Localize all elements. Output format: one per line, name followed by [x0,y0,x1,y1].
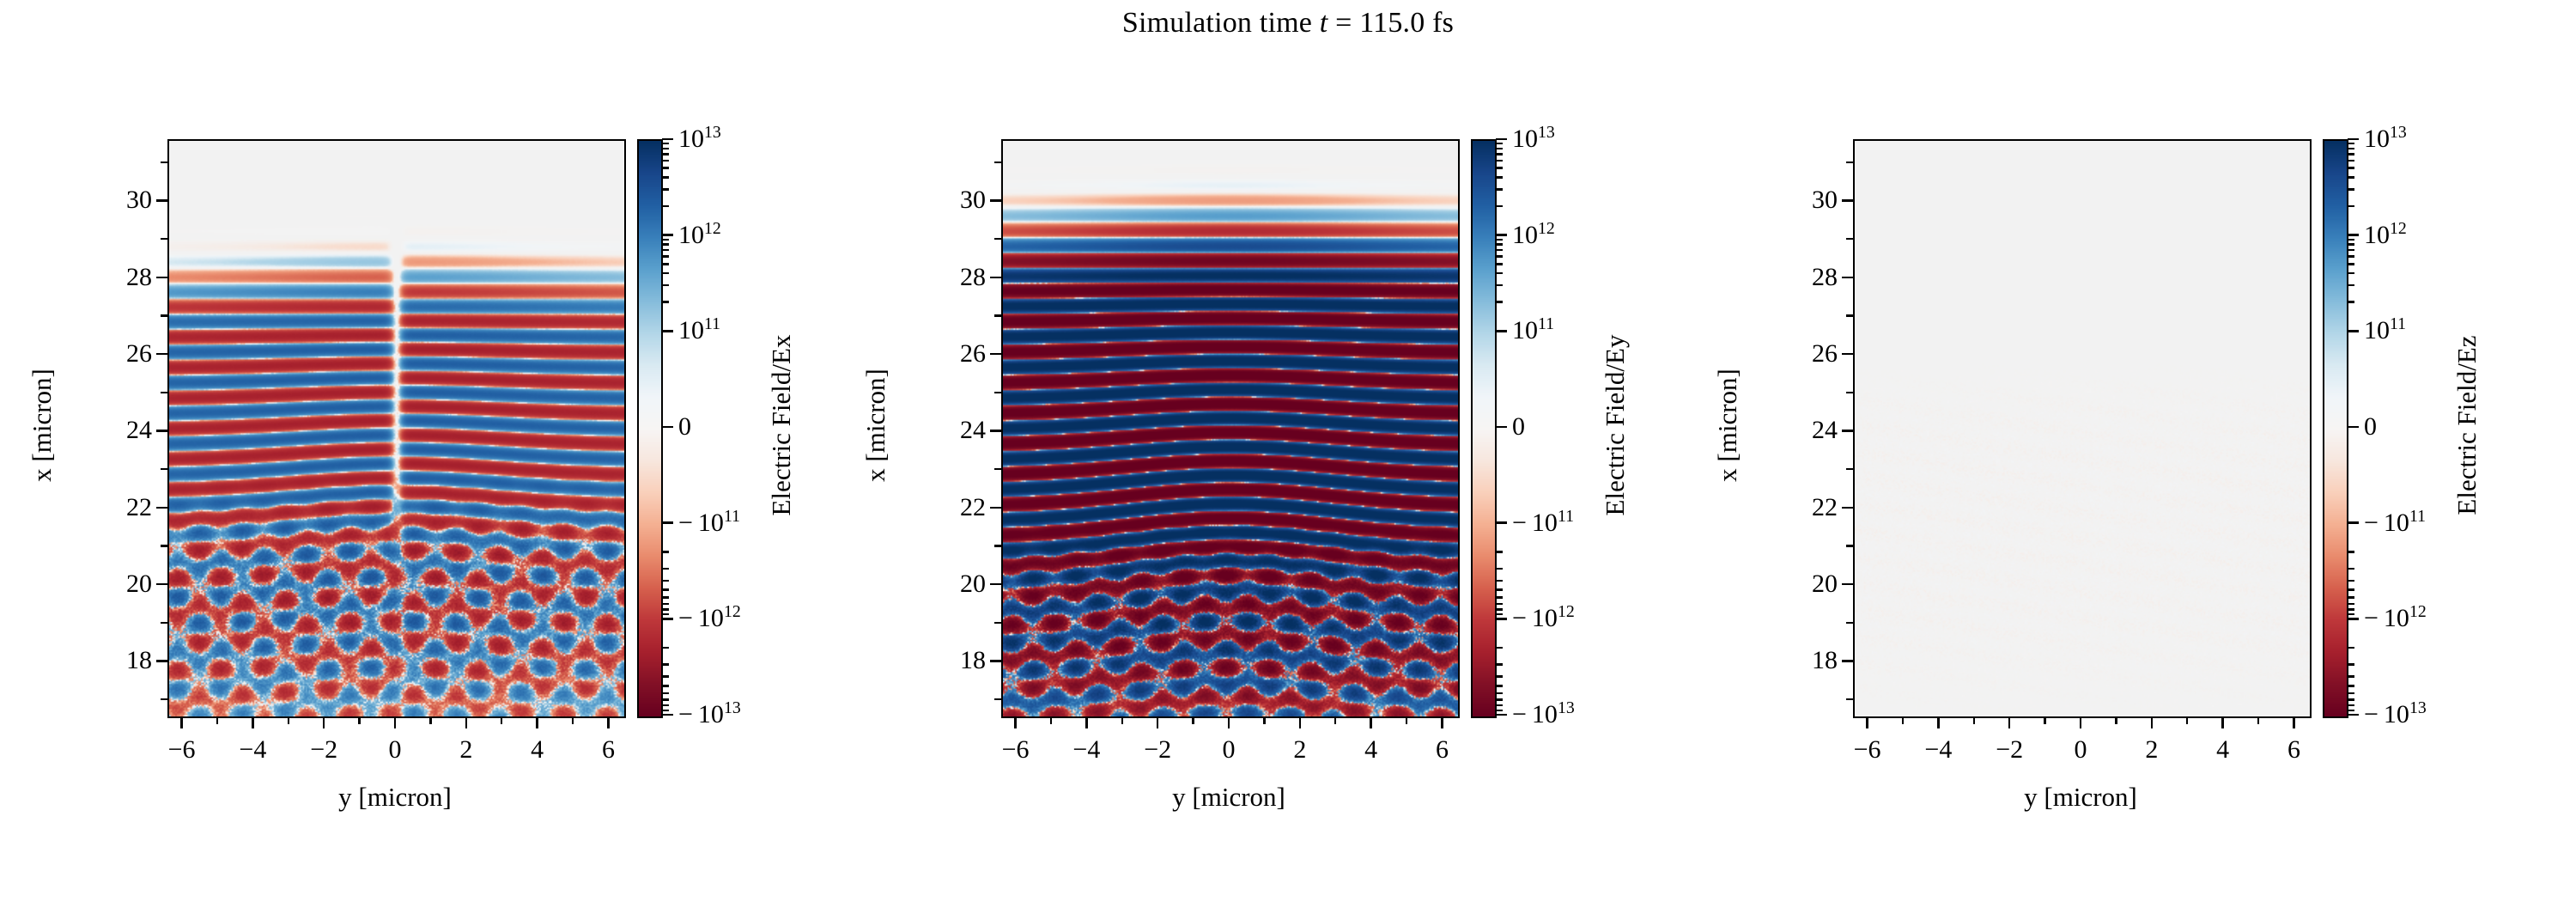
cbticklabel-ey-5: − 1012 [1512,604,1575,633]
xtick-ex-5 [572,717,574,724]
cbtick-minor-ey [1496,239,1503,241]
ylabel-ez: x [micron] [1712,137,1743,713]
yticklabel-ex-22: 22 [66,493,152,522]
ytick-ey-17 [994,698,1001,701]
xticklabel-ex-6: 6 [602,735,615,765]
cbtick-ez-4 [2348,521,2359,524]
cbtick-minor-ey [1496,551,1503,553]
xticklabel-ez-2: 2 [2145,735,2158,765]
xlabel-ex: y [micron] [167,782,623,813]
ytick-ex-29 [161,238,167,241]
cbtick-minor-ey [1496,176,1503,179]
yticklabel-ey-20: 20 [900,570,986,599]
cbtick-ez-5 [2348,618,2359,620]
ytick-ez-19 [1846,622,1853,625]
figure-canvas: Simulation time t = 115.0 fs 18202224262… [0,0,2576,902]
cbtick-minor-ez [2348,588,2354,591]
cbtick-minor-ez [2348,153,2354,155]
ytick-ez-29 [1846,238,1853,241]
cbticklabel-ex-0: 1013 [678,125,721,154]
yticklabel-ex-26: 26 [66,339,152,369]
cbtick-minor-ex [662,647,669,649]
cbtick-minor-ez [2348,272,2354,275]
xtick-ey--3 [1121,717,1124,724]
cbtick-minor-ex [662,685,669,687]
ytick-ez-20 [1842,583,1853,586]
cbtick-ez-2 [2348,330,2359,332]
xtick-ey-2 [1299,717,1302,728]
ytick-ez-22 [1842,507,1853,509]
cbtick-minor-ey [1496,263,1503,265]
cbtick-minor-ez [2348,551,2354,553]
cbtick-ex-6 [662,714,673,716]
cbtick-minor-ex [662,692,669,695]
ytick-ey-23 [994,468,1001,471]
cbtick-minor-ez [2348,613,2354,616]
xtick-ez-3 [2186,717,2189,724]
xtick-ez-2 [2151,717,2154,728]
yticklabel-ey-26: 26 [900,339,986,369]
cbtick-ex-2 [662,330,673,332]
xtick-ex-0 [394,717,397,728]
cbtick-minor-ey [1496,148,1503,150]
cbtick-minor-ey [1496,153,1503,155]
cbtick-ey-5 [1496,618,1507,620]
cbtick-ex-4 [662,521,673,524]
cbtick-minor-ey [1496,663,1503,666]
yticklabel-ey-22: 22 [900,493,986,522]
axes-ez [1853,139,2312,718]
xtick-ex--6 [180,717,183,728]
title-variable: t [1320,7,1328,39]
cbtick-minor-ey [1496,284,1503,287]
ytick-ey-28 [990,277,1001,279]
cbtick-minor-ez [2348,167,2354,169]
cbtick-minor-ez [2348,255,2354,258]
cbtick-minor-ey [1496,249,1503,252]
xtick-ez--1 [2044,717,2046,724]
colorbar-label-ex: Electric Field/Ex [766,137,797,713]
xticklabel-ez--2: −2 [1996,735,2023,765]
xticklabel-ex-2: 2 [459,735,472,765]
xtick-ez-6 [2293,717,2295,728]
cbtick-minor-ez [2348,647,2354,649]
xticklabel-ey-2: 2 [1293,735,1306,765]
cbticklabel-ey-3: 0 [1512,412,1525,442]
cbtick-minor-ex [662,176,669,179]
yticklabel-ey-24: 24 [900,416,986,445]
cbtick-minor-ey [1496,580,1503,582]
cbtick-minor-ex [662,698,669,701]
title-prefix: Simulation time [1122,7,1320,39]
xtick-ey-3 [1334,717,1337,724]
cbtick-minor-ey [1496,160,1503,162]
xticklabel-ex--2: −2 [310,735,337,765]
cbticklabel-ez-1: 1012 [2364,221,2407,250]
xticklabel-ez-0: 0 [2075,735,2087,765]
yticklabel-ex-24: 24 [66,416,152,445]
cbtick-minor-ex [662,160,669,162]
cbtick-minor-ey [1496,143,1503,145]
xtick-ex-4 [536,717,538,728]
xtick-ez-1 [2115,717,2117,724]
xtick-ey--4 [1085,717,1088,728]
cbticklabel-ez-6: − 1013 [2364,700,2427,729]
xtick-ex--4 [252,717,254,728]
cbtick-minor-ez [2348,710,2354,712]
cbtick-minor-ey [1496,167,1503,169]
cbtick-minor-ez [2348,568,2354,570]
cbticklabel-ex-1: 1012 [678,221,721,250]
cbtick-ey-0 [1496,138,1507,141]
ytick-ey-30 [990,199,1001,202]
colorbar-gradient-ex [639,141,661,716]
cbtick-minor-ey [1496,588,1503,591]
cbticklabel-ez-2: 1011 [2364,316,2406,345]
xticklabel-ez-4: 4 [2216,735,2229,765]
title-equals: = [1327,7,1359,39]
yticklabel-ez-30: 30 [1752,186,1838,215]
xtick-ez-0 [2080,717,2082,728]
ytick-ex-17 [161,698,167,701]
ytick-ey-20 [990,583,1001,586]
cbtick-minor-ex [662,588,669,591]
xtick-ex--1 [358,717,361,724]
ytick-ex-23 [161,468,167,471]
ytick-ex-18 [156,660,167,662]
xtick-ey-5 [1406,717,1408,724]
cbtick-minor-ey [1496,698,1503,701]
ytick-ez-31 [1846,162,1853,164]
cbtick-minor-ey [1496,188,1503,191]
cbtick-minor-ex [662,710,669,712]
cbtick-minor-ex [662,596,669,599]
cbtick-minor-ex [662,255,669,258]
cbtick-ex-0 [662,138,673,141]
cbtick-minor-ey [1496,613,1503,616]
cbtick-minor-ex [662,603,669,606]
yticklabel-ez-18: 18 [1752,646,1838,675]
ytick-ex-21 [161,545,167,547]
colorbar-gradient-ez [2324,141,2347,716]
xticklabel-ey--2: −2 [1144,735,1171,765]
cbtick-ey-1 [1496,234,1507,236]
xtick-ez--3 [1973,717,1976,724]
cbticklabel-ex-3: 0 [678,412,691,442]
xticklabel-ez--4: −4 [1924,735,1952,765]
yticklabel-ey-30: 30 [900,186,986,215]
xticklabel-ey-4: 4 [1364,735,1377,765]
xtick-ey-4 [1370,717,1372,728]
xtick-ex-6 [607,717,610,728]
xlabel-ez: y [micron] [1853,782,2308,813]
ytick-ey-22 [990,507,1001,509]
xticklabel-ez--6: −6 [1854,735,1881,765]
xtick-ey-0 [1228,717,1230,728]
ytick-ex-27 [161,314,167,317]
xticklabel-ex--6: −6 [168,735,196,765]
cbtick-ez-3 [2348,426,2359,429]
title-value: 115.0 [1359,7,1425,39]
cbtick-minor-ex [662,153,669,155]
cbticklabel-ey-4: − 1011 [1512,509,1574,538]
cbtick-minor-ey [1496,675,1503,678]
cbtick-ex-5 [662,618,673,620]
xtick-ey--1 [1192,717,1194,724]
cbtick-ez-6 [2348,714,2359,716]
ytick-ey-21 [994,545,1001,547]
figure-title: Simulation time t = 115.0 fs [0,7,2576,40]
ytick-ez-28 [1842,277,1853,279]
yticklabel-ez-24: 24 [1752,416,1838,445]
cbtick-minor-ez [2348,685,2354,687]
cbtick-minor-ex [662,205,669,208]
cbtick-minor-ey [1496,205,1503,208]
cbtick-ey-6 [1496,714,1507,716]
cbtick-minor-ez [2348,301,2354,303]
axes-ex [167,139,626,718]
ytick-ey-24 [990,430,1001,432]
cbtick-ey-4 [1496,521,1507,524]
cbtick-minor-ez [2348,704,2354,707]
cbtick-minor-ez [2348,603,2354,606]
cbtick-minor-ex [662,143,669,145]
cbtick-minor-ez [2348,692,2354,695]
cbtick-minor-ez [2348,160,2354,162]
colorbar-label-ez: Electric Field/Ez [2451,137,2482,713]
yticklabel-ex-28: 28 [66,263,152,292]
xtick-ey-1 [1263,717,1266,724]
xticklabel-ex--4: −4 [239,735,266,765]
cbtick-minor-ez [2348,284,2354,287]
yticklabel-ey-28: 28 [900,263,986,292]
ytick-ex-22 [156,507,167,509]
ytick-ey-18 [990,660,1001,662]
cbtick-minor-ey [1496,243,1503,246]
ytick-ez-27 [1846,314,1853,317]
xticklabel-ey-0: 0 [1223,735,1236,765]
colorbar-ey [1471,139,1497,718]
cbtick-ey-3 [1496,426,1507,429]
ytick-ey-27 [994,314,1001,317]
cbtick-minor-ex [662,301,669,303]
cbtick-minor-ey [1496,692,1503,695]
cbtick-minor-ez [2348,148,2354,150]
ylabel-ey: x [micron] [860,137,891,713]
xticklabel-ey--4: −4 [1072,735,1100,765]
cbticklabel-ez-4: − 1011 [2364,509,2426,538]
cbtick-minor-ez [2348,580,2354,582]
cbtick-minor-ex [662,551,669,553]
ytick-ez-25 [1846,392,1853,394]
xticklabel-ex-4: 4 [531,735,544,765]
cbtick-minor-ex [662,580,669,582]
cbtick-minor-ex [662,272,669,275]
xtick-ex-3 [501,717,503,724]
axes-ey [1001,139,1460,718]
cbticklabel-ex-2: 1011 [678,316,720,345]
xtick-ez--5 [1902,717,1905,724]
cbtick-minor-ex [662,188,669,191]
cbtick-minor-ey [1496,255,1503,258]
cbtick-minor-ey [1496,301,1503,303]
ytick-ex-19 [161,622,167,625]
ytick-ex-20 [156,583,167,586]
cbticklabel-ey-1: 1012 [1512,221,1555,250]
cbtick-ex-1 [662,234,673,236]
ytick-ez-26 [1842,353,1853,356]
cbtick-ex-3 [662,426,673,429]
yticklabel-ey-18: 18 [900,646,986,675]
cbtick-minor-ex [662,167,669,169]
cbtick-minor-ex [662,263,669,265]
cbtick-minor-ex [662,675,669,678]
cbtick-minor-ex [662,663,669,666]
ytick-ez-18 [1842,660,1853,662]
cbtick-minor-ey [1496,568,1503,570]
xtick-ez--2 [2008,717,2011,728]
cbtick-minor-ez [2348,596,2354,599]
yticklabel-ex-20: 20 [66,570,152,599]
ytick-ez-17 [1846,698,1853,701]
cbticklabel-ex-4: − 1011 [678,509,740,538]
xtick-ex-2 [465,717,468,728]
colorbar-label-ey: Electric Field/Ey [1600,137,1631,713]
heatmap-ez [1855,141,2310,716]
cbtick-minor-ey [1496,685,1503,687]
ytick-ey-25 [994,392,1001,394]
ytick-ex-25 [161,392,167,394]
cbtick-ey-2 [1496,330,1507,332]
cbtick-minor-ez [2348,608,2354,611]
title-unit: fs [1425,7,1454,39]
xlabel-ey: y [micron] [1001,782,1456,813]
yticklabel-ez-28: 28 [1752,263,1838,292]
colorbar-ex [637,139,663,718]
ytick-ex-24 [156,430,167,432]
cbtick-minor-ez [2348,143,2354,145]
xtick-ey--6 [1014,717,1017,728]
cbtick-minor-ey [1496,603,1503,606]
xtick-ey-6 [1441,717,1443,728]
xticklabel-ex-0: 0 [389,735,402,765]
cbtick-minor-ez [2348,243,2354,246]
yticklabel-ez-22: 22 [1752,493,1838,522]
ytick-ez-24 [1842,430,1853,432]
xtick-ex--2 [323,717,325,728]
cbtick-minor-ey [1496,647,1503,649]
cbticklabel-ey-6: − 1013 [1512,700,1575,729]
cbtick-minor-ex [662,608,669,611]
cbtick-minor-ez [2348,176,2354,179]
cbticklabel-ex-6: − 1013 [678,700,741,729]
ytick-ez-30 [1842,199,1853,202]
colorbar-gradient-ey [1473,141,1495,716]
cbtick-minor-ez [2348,205,2354,208]
xtick-ez-4 [2221,717,2224,728]
cbtick-minor-ey [1496,704,1503,707]
xticklabel-ez-6: 6 [2287,735,2300,765]
ytick-ex-28 [156,277,167,279]
xtick-ex-1 [429,717,432,724]
cbtick-minor-ey [1496,608,1503,611]
yticklabel-ez-26: 26 [1752,339,1838,369]
colorbar-ez [2323,139,2348,718]
cbtick-minor-ey [1496,272,1503,275]
cbtick-minor-ez [2348,675,2354,678]
cbticklabel-ex-5: − 1012 [678,604,741,633]
cbtick-minor-ex [662,568,669,570]
heatmap-ex [169,141,624,716]
cbtick-minor-ez [2348,249,2354,252]
cbticklabel-ez-3: 0 [2364,412,2377,442]
cbtick-minor-ez [2348,698,2354,701]
xticklabel-ey-6: 6 [1436,735,1449,765]
cbtick-minor-ex [662,613,669,616]
ytick-ex-31 [161,162,167,164]
cbtick-minor-ez [2348,263,2354,265]
cbtick-minor-ey [1496,710,1503,712]
ytick-ex-30 [156,199,167,202]
xtick-ey--5 [1050,717,1053,724]
cbtick-minor-ez [2348,663,2354,666]
xtick-ez--4 [1937,717,1940,728]
xtick-ex--5 [216,717,219,724]
ytick-ez-21 [1846,545,1853,547]
cbtick-minor-ex [662,249,669,252]
cbtick-minor-ex [662,239,669,241]
ytick-ex-26 [156,353,167,356]
cbtick-minor-ez [2348,188,2354,191]
xtick-ez--6 [1866,717,1868,728]
ytick-ey-31 [994,162,1001,164]
ytick-ey-26 [990,353,1001,356]
cbtick-minor-ex [662,243,669,246]
xtick-ey--2 [1157,717,1159,728]
cbticklabel-ey-0: 1013 [1512,125,1555,154]
ytick-ey-29 [994,238,1001,241]
heatmap-ey [1003,141,1458,716]
cbticklabel-ez-5: − 1012 [2364,604,2427,633]
xtick-ex--3 [288,717,290,724]
cbtick-minor-ex [662,148,669,150]
cbtick-minor-ez [2348,239,2354,241]
cbtick-ez-0 [2348,138,2359,141]
cbticklabel-ey-2: 1011 [1512,316,1554,345]
cbtick-ez-1 [2348,234,2359,236]
ylabel-ex: x [micron] [27,137,58,713]
yticklabel-ex-30: 30 [66,186,152,215]
yticklabel-ex-18: 18 [66,646,152,675]
yticklabel-ez-20: 20 [1752,570,1838,599]
ytick-ey-19 [994,622,1001,625]
cbtick-minor-ey [1496,596,1503,599]
xtick-ez-5 [2257,717,2260,724]
xticklabel-ey--6: −6 [1002,735,1030,765]
cbtick-minor-ex [662,704,669,707]
cbtick-minor-ex [662,284,669,287]
cbticklabel-ez-0: 1013 [2364,125,2407,154]
ytick-ez-23 [1846,468,1853,471]
